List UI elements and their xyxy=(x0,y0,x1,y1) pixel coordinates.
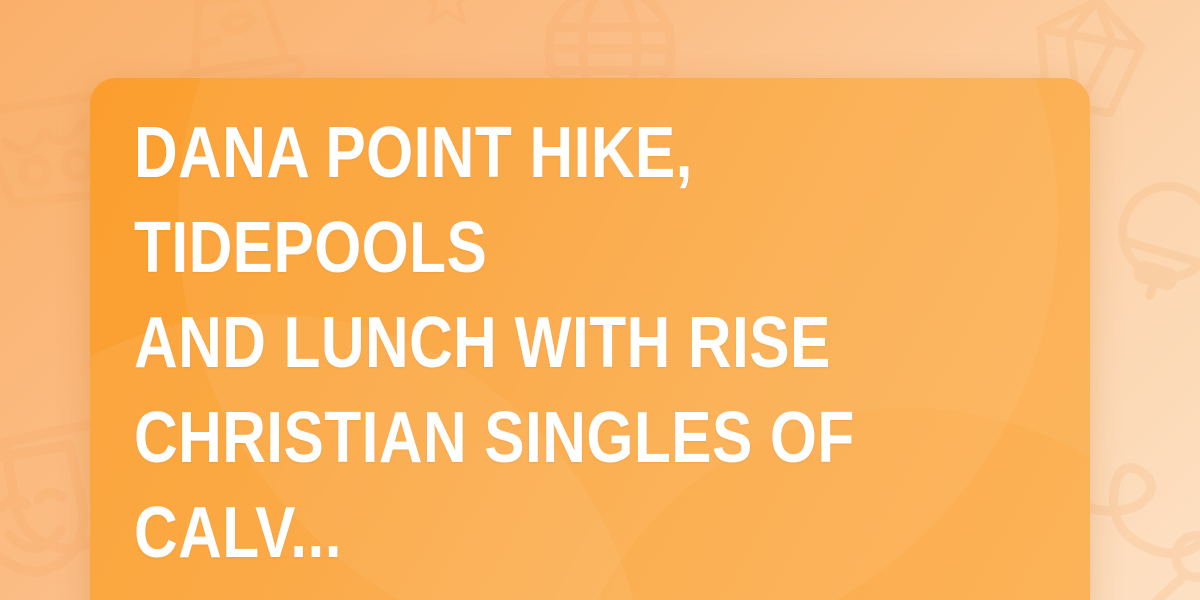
event-title: DANA POINT HIKE, TIDEPOOLS AND LUNCH WIT… xyxy=(134,106,900,581)
event-banner: DANA POINT HIKE, TIDEPOOLS AND LUNCH WIT… xyxy=(0,0,1200,600)
event-card[interactable]: DANA POINT HIKE, TIDEPOOLS AND LUNCH WIT… xyxy=(90,78,1090,600)
star-icon xyxy=(404,0,490,38)
card-content: DANA POINT HIKE, TIDEPOOLS AND LUNCH WIT… xyxy=(90,78,1090,600)
